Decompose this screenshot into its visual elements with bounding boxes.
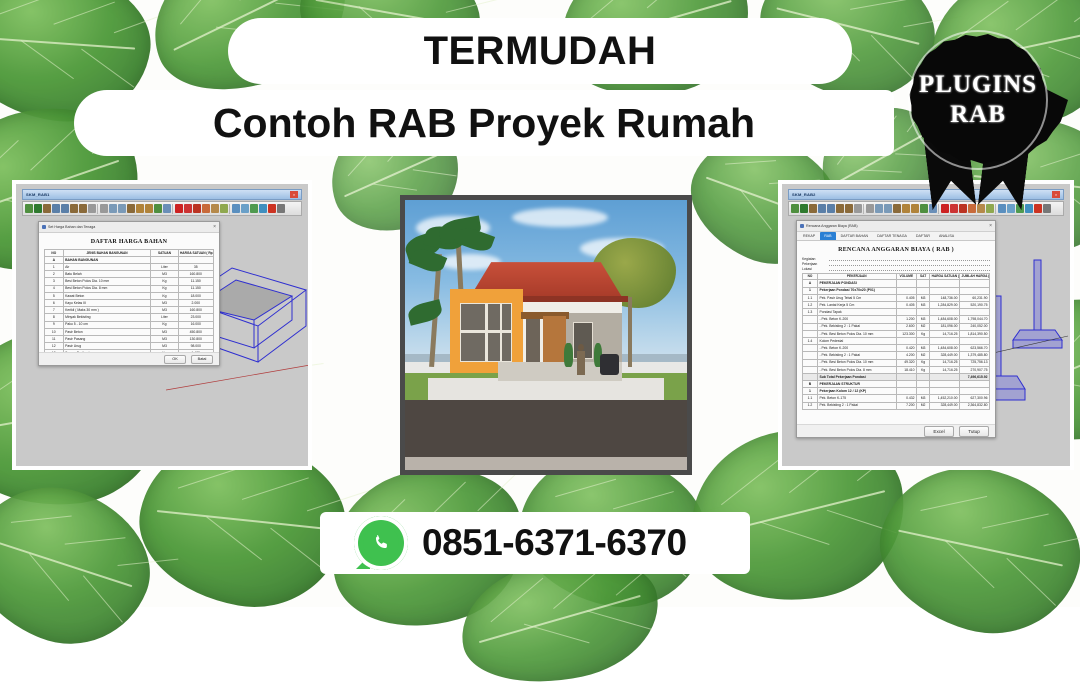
harga-bahan-table: NOJENIS BAHAN BANGUNANSATUANHARGA SATUAN… [44, 249, 214, 352]
column-header: SATUAN [151, 250, 178, 257]
screenshot-panel-left: SKM_RAB1 × Set Harga Bahan dan Tenaga × [12, 180, 312, 470]
plugins-rab-badge: PLUGINS RAB [884, 8, 1072, 213]
meta-input[interactable] [829, 262, 990, 266]
table-row: 1.1Pek. Pasir Urug Tebal 5 Cm0.405M3148,… [803, 294, 990, 301]
rab-tab-bar[interactable]: REKAPRABDAFTAR BAHANDAFTAR TENAGADAFTARA… [797, 232, 995, 241]
meta-label: Lokasi [802, 267, 826, 271]
screenshot-panel-middle [400, 195, 692, 475]
tab-rab[interactable]: RAB [820, 232, 835, 240]
cancel-button[interactable]: Batal [191, 355, 213, 364]
toolbar-icon[interactable] [268, 204, 276, 213]
toolbar-icon[interactable] [184, 204, 192, 213]
toolbar-icon[interactable] [202, 204, 210, 213]
column-header: HARGA SATUAN ( Rp. ) [930, 273, 960, 280]
window-title-text: SKM_RAB1 [26, 192, 50, 197]
toolbar-icon[interactable] [175, 204, 183, 213]
motorcycle [600, 354, 620, 376]
toolbar-icon[interactable] [250, 204, 258, 213]
toolbar-icon[interactable] [241, 204, 249, 213]
toolbar-icon[interactable] [79, 204, 87, 213]
toolbar-icon[interactable] [118, 204, 126, 213]
dialog-title-text: Rencana Anggaran Biaya (RAB) [806, 224, 858, 228]
table-row: - Pek. Besi Beton Polos Dia. 8 mm18.410K… [803, 366, 990, 373]
table-row: - Pek. Bekisting 2 : 1 Pakai2.600M2181,0… [803, 323, 990, 330]
table-row: 1.1Pek. Beton K-1750.432M31,452,210.0062… [803, 395, 990, 402]
toolbar-icon[interactable] [100, 204, 108, 213]
table-row: - Pek. Bekisting 2 : 1 Pakai4.200M2328,4… [803, 352, 990, 359]
meta-input[interactable] [829, 257, 990, 261]
table-row: - Pek. Beton K-2001.200M31,484,608.001,7… [803, 316, 990, 323]
sketchup-window-left: SKM_RAB1 × Set Harga Bahan dan Tenaga × [16, 184, 308, 466]
table-row: 1.4Kolom Pedestal [803, 337, 990, 344]
title-pill-top: TERMUDAH [228, 18, 852, 84]
column-header: JUMLAH HARGA ( Rp. ) [960, 273, 990, 280]
toolbar-icon[interactable] [232, 204, 240, 213]
table-row: 11Pasir PasangM3130.800 [45, 335, 214, 342]
meta-input[interactable] [829, 267, 990, 271]
table-row: 4Besi Beton Polos Dia. 8 mmKg11.150 [45, 285, 214, 292]
curb [405, 457, 687, 471]
column-header: JENIS BAHAN BANGUNAN [63, 250, 151, 257]
table-row: 8Minyak BekistingLiter23.000 [45, 314, 214, 321]
toolbar-icon[interactable] [34, 204, 42, 213]
toolbar-icon[interactable] [193, 204, 201, 213]
table-row: - Pek. Beton K-2000.420M31,484,608.00623… [803, 345, 990, 352]
dialog-close-icon[interactable]: × [213, 225, 216, 230]
dialog-body: DAFTAR HARGA BAHAN NOJENIS BAHAN BANGUNA… [39, 233, 219, 352]
window-close-icon[interactable]: × [290, 191, 298, 198]
toolbar-icon[interactable] [136, 204, 144, 213]
table-row: 13Semen PortlandKg1.435 [45, 350, 214, 352]
toolbar-icon[interactable] [800, 204, 808, 213]
dialog-daftar-harga-bahan: Set Harga Bahan dan Tenaga × DAFTAR HARG… [38, 221, 220, 366]
toolbar-separator [863, 204, 865, 214]
column-header: PEKERJAAN [817, 273, 896, 280]
dialog-body: RENCANA ANGGARAN BIAYA ( RAB ) KegiatanP… [797, 241, 995, 424]
table-row: - Pek. Besi Beton Polos Dia. 10 mm123.30… [803, 330, 990, 337]
dialog-icon [800, 224, 804, 228]
dialog-title-bar: Rencana Anggaran Biaya (RAB) × [797, 221, 995, 232]
toolbar-icon[interactable] [809, 204, 817, 213]
toolbar-left[interactable] [22, 201, 302, 216]
window-title-text: SKM_RAB2 [792, 192, 816, 197]
badge-line-1: PLUGINS [919, 71, 1037, 99]
column-header: VOLUME [896, 273, 917, 280]
sketchup-window-right: SKM_RAB2 × Rencana Anggaran Biaya (RAB) … [782, 184, 1070, 466]
tab-analisa[interactable]: ANALISA [935, 232, 958, 240]
toolbar-icon[interactable] [163, 204, 171, 213]
table-row: APEKERJAAN PONDASI [803, 280, 990, 287]
house-render-image [405, 200, 687, 470]
table-row: 1.2Pek. Bekisting 2 : 1 Pakai7.200M2328,… [803, 402, 990, 409]
toolbar-icon[interactable] [109, 204, 117, 213]
toolbar-separator [229, 204, 231, 214]
table-row: 1.3Pondasi Tapak [803, 309, 990, 316]
table-row: 9Paku 5 - 10 cmKg16.000 [45, 321, 214, 328]
toolbar-icon[interactable] [836, 204, 844, 213]
toolbar-icon[interactable] [145, 204, 153, 213]
window-title-bar-left: SKM_RAB1 × [22, 189, 302, 200]
toolbar-icon[interactable] [827, 204, 835, 213]
close-button[interactable]: Tutup [959, 426, 989, 437]
toolbar-icon[interactable] [61, 204, 69, 213]
rab-meta-fields: KegiatanPekerjaanLokasi [802, 257, 990, 271]
table-row: BPEKERJAAN STRUKTUR [803, 381, 990, 388]
toolbar-icon[interactable] [791, 204, 799, 213]
meta-field: Kegiatan [802, 257, 990, 261]
dialog-footer: Excel Tutup [797, 424, 995, 437]
table-row: 7Kerikil ( Maks 30 mm )M3160.800 [45, 307, 214, 314]
table-title: RENCANA ANGGARAN BIAYA ( RAB ) [802, 247, 990, 253]
badge-line-2: RAB [950, 101, 1006, 129]
page-title-top: TERMUDAH [424, 29, 657, 74]
table-row: 3Besi Beton Polos Dia. 10 mmKg11.150 [45, 278, 214, 285]
dialog-title-text: Set Harga Bahan dan Tenaga [48, 225, 95, 229]
toolbar-icon[interactable] [277, 204, 285, 213]
dialog-title-bar: Set Harga Bahan dan Tenaga × [39, 222, 219, 233]
phone-handset-icon [372, 532, 391, 553]
toolbar-icon[interactable] [43, 204, 51, 213]
meta-label: Kegiatan [802, 257, 826, 261]
table-row: 1Pekerjaan Kolom 12 / 12 (KP) [803, 388, 990, 395]
large-window [460, 303, 512, 362]
table-row: ABAHAN BANGUNAN [45, 256, 214, 263]
screenshot-panel-right: SKM_RAB2 × Rencana Anggaran Biaya (RAB) … [778, 180, 1074, 470]
table-header-row: NOPEKERJAANVOLUMESATHARGA SATUAN ( Rp. )… [803, 273, 990, 280]
badge-text: PLUGINS RAB [908, 30, 1048, 170]
main-door [543, 316, 566, 367]
column-header: SAT [917, 273, 930, 280]
toolbar-separator [172, 204, 174, 214]
table-row: - Pek. Besi Beton Polos Dia. 10 mm49.320… [803, 359, 990, 366]
meta-field: Pekerjaan [802, 262, 990, 266]
dialog-icon [42, 225, 46, 229]
table-row: 1AirLiter35 [45, 264, 214, 271]
column-header: HARGA SATUAN ( Rp. ) [178, 250, 214, 257]
excel-export-button[interactable]: Excel [924, 426, 954, 437]
dialog-close-icon[interactable]: × [989, 224, 992, 229]
tab-rekap[interactable]: REKAP [799, 232, 819, 240]
dialog-rab: Rencana Anggaran Biaya (RAB) × REKAPRABD… [796, 220, 996, 438]
table-row: 2Batu BelahM3160.800 [45, 271, 214, 278]
table-title: DAFTAR HARGA BAHAN [44, 239, 214, 245]
meta-field: Lokasi [802, 267, 990, 271]
toolbar-icon[interactable] [25, 204, 33, 213]
page-title-main: Contoh RAB Proyek Rumah [213, 100, 755, 147]
table-header-row: NOJENIS BAHAN BANGUNANSATUANHARGA SATUAN… [45, 250, 214, 257]
rab-table: NOPEKERJAANVOLUMESATHARGA SATUAN ( Rp. )… [802, 273, 990, 410]
toolbar-icon[interactable] [127, 204, 135, 213]
toolbar-icon[interactable] [854, 204, 862, 213]
ok-button[interactable]: OK [164, 355, 186, 364]
table-row: 1.2Pek. Lantai Kerja 5 Cm0.405M31,284,82… [803, 302, 990, 309]
title-pill-main: Contoh RAB Proyek Rumah [74, 90, 894, 156]
table-row: 1Pekerjaan Pondasi 70x70x20 (P01) [803, 287, 990, 294]
toolbar-icon[interactable] [875, 204, 883, 213]
toolbar-icon[interactable] [88, 204, 96, 213]
toolbar-icon[interactable] [866, 204, 874, 213]
toolbar-icon[interactable] [70, 204, 78, 213]
table-row: 6Kayu Kelas IIIM32.000 [45, 300, 214, 307]
column-header: NO [803, 273, 818, 280]
side-door [526, 319, 540, 368]
tab-daftar[interactable]: DAFTAR [912, 232, 934, 240]
tab-daftar-bahan[interactable]: DAFTAR BAHAN [837, 232, 873, 240]
toolbar-icon[interactable] [154, 204, 162, 213]
table-row: 10Pasir BetonM3450.800 [45, 328, 214, 335]
table-row: 5Kawat BetonKg18.000 [45, 292, 214, 299]
toolbar-icon[interactable] [259, 204, 267, 213]
table-row: 12Pasir UrugM398.000 [45, 343, 214, 350]
toolbar-separator [97, 204, 99, 214]
toolbar-icon[interactable] [845, 204, 853, 213]
toolbar-icon[interactable] [818, 204, 826, 213]
table-row: Sub Total Pekerjaan Pondasi7,496,615.92 [803, 373, 990, 380]
whatsapp-phone-number: 0851-6371-6370 [422, 522, 687, 564]
whatsapp-contact-bar[interactable]: 0851-6371-6370 [320, 512, 750, 574]
toolbar-icon[interactable] [211, 204, 219, 213]
dialog-footer: OK Batal [39, 352, 219, 365]
whatsapp-icon[interactable] [354, 516, 408, 570]
column-header: NO [45, 250, 64, 257]
toolbar-icon[interactable] [52, 204, 60, 213]
toolbar-icon[interactable] [220, 204, 228, 213]
tab-daftar-tenaga[interactable]: DAFTAR TENAGA [873, 232, 911, 240]
meta-label: Pekerjaan [802, 262, 826, 266]
